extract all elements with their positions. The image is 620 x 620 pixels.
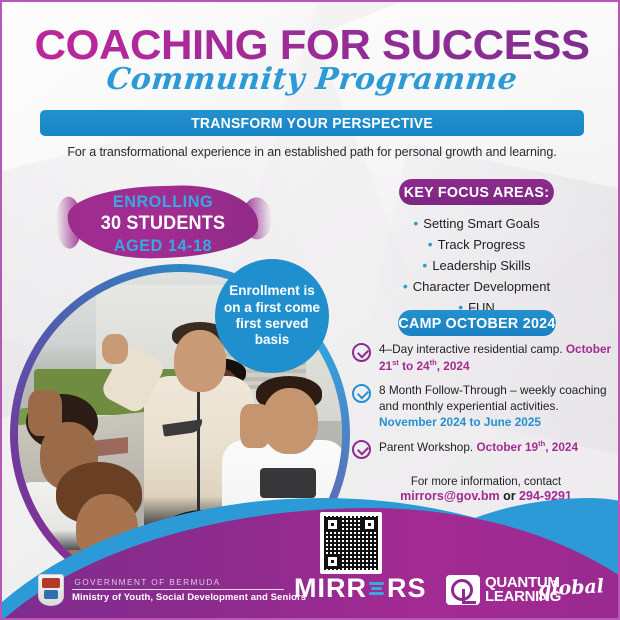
government-logo: GOVERNMENT OF BERMUDA Ministry of Youth,… — [38, 574, 306, 606]
key-focus-areas-list: Setting Smart Goals Track Progress Leade… — [395, 213, 558, 318]
government-name: GOVERNMENT OF BERMUDA — [74, 577, 303, 587]
camp-detail-text: Parent Workshop. October 19th, 2024 — [379, 439, 578, 456]
ministry-name: Ministry of Youth, Social Development an… — [72, 592, 306, 603]
camp-heading: CAMP OCTOBER 2024 — [398, 310, 556, 336]
enrollment-notice-text: Enrollment is on a first come first serv… — [215, 283, 329, 349]
enrolling-age-range: AGED 14-18 — [73, 236, 254, 256]
mirrors-dots-icon — [369, 582, 384, 595]
photo-person-hand — [28, 390, 62, 436]
focus-item: Character Development — [395, 276, 558, 297]
contact-intro: For more information, contact — [362, 476, 610, 488]
footer-bar: GOVERNMENT OF BERMUDA Ministry of Youth,… — [2, 558, 620, 618]
list-item: 4–Day interactive residential camp. Octo… — [352, 342, 614, 374]
key-focus-areas-heading: KEY FOCUS AREAS: — [399, 179, 554, 205]
list-item: Parent Workshop. October 19th, 2024 — [352, 439, 614, 459]
focus-item: Track Progress — [395, 234, 558, 255]
photo-person-head — [262, 388, 318, 454]
header-block: COACHING FOR SUCCESS Community Programme — [2, 24, 620, 97]
list-item: 8 Month Follow-Through – weekly coaching… — [352, 383, 614, 430]
key-focus-areas-block: KEY FOCUS AREAS: Setting Smart Goals Tra… — [395, 179, 558, 318]
photo-person-hand — [240, 404, 270, 448]
check-circle-icon — [352, 384, 371, 403]
camp-detail-list: 4–Day interactive residential camp. Octo… — [352, 342, 614, 468]
qr-finder-top-left — [325, 517, 340, 532]
camp-heading-block: CAMP OCTOBER 2024 — [394, 310, 560, 336]
flyer-root: COACHING FOR SUCCESS Community Programme… — [0, 0, 620, 620]
divider — [72, 589, 284, 590]
page-title: COACHING FOR SUCCESS — [0, 24, 620, 66]
enrolling-label: ENROLLING — [73, 192, 254, 212]
mirrors-logo-text-left: MIRR — [294, 573, 367, 604]
camp-heading-text: CAMP OCTOBER 2024 — [398, 315, 555, 332]
check-circle-icon — [352, 440, 371, 459]
mirrors-logo-text-right: RS — [387, 573, 427, 604]
quantum-learning-mark-icon — [446, 575, 480, 605]
focus-item: Setting Smart Goals — [395, 213, 558, 234]
camp-detail-highlight: October 19th, 2024 — [476, 440, 578, 454]
contact-conjunction: or — [500, 489, 519, 503]
photo-person-hand — [102, 334, 128, 364]
enrolling-badge: ENROLLING 30 STUDENTS AGED 14-18 — [68, 192, 258, 256]
quantum-learning-logo: QUANTUM LEARNING global — [446, 575, 561, 605]
focus-item: Leadership Skills — [395, 255, 558, 276]
intro-paragraph: For a transformational experience in an … — [2, 145, 620, 159]
tagline-banner: TRANSFORM YOUR PERSPECTIVE — [40, 110, 584, 136]
camp-detail-text: 4–Day interactive residential camp. Octo… — [379, 342, 614, 374]
page-subtitle: Community Programme — [0, 62, 620, 97]
enrollment-notice-badge: Enrollment is on a first come first serv… — [215, 259, 329, 373]
qr-finder-top-right — [362, 517, 377, 532]
quantum-global-word: global — [537, 575, 604, 600]
camp-detail-text: 8 Month Follow-Through – weekly coaching… — [379, 383, 614, 430]
camp-detail-highlight: November 2024 to June 2025 — [379, 415, 541, 429]
mirrors-logo: MIRR RS — [294, 573, 427, 604]
key-focus-areas-heading-text: KEY FOCUS AREAS: — [404, 184, 549, 201]
bermuda-coat-of-arms-icon — [38, 574, 64, 606]
check-circle-icon — [352, 343, 371, 362]
enrolling-count: 30 STUDENTS — [73, 213, 254, 235]
tagline-text: TRANSFORM YOUR PERSPECTIVE — [191, 115, 433, 132]
government-logo-text: GOVERNMENT OF BERMUDA Ministry of Youth,… — [72, 577, 306, 603]
camp-detail-highlight: October 21st to 24th, 2024 — [379, 342, 611, 373]
photo-brand-mark — [260, 468, 316, 498]
contact-email[interactable]: mirrors@gov.bm — [400, 489, 499, 503]
